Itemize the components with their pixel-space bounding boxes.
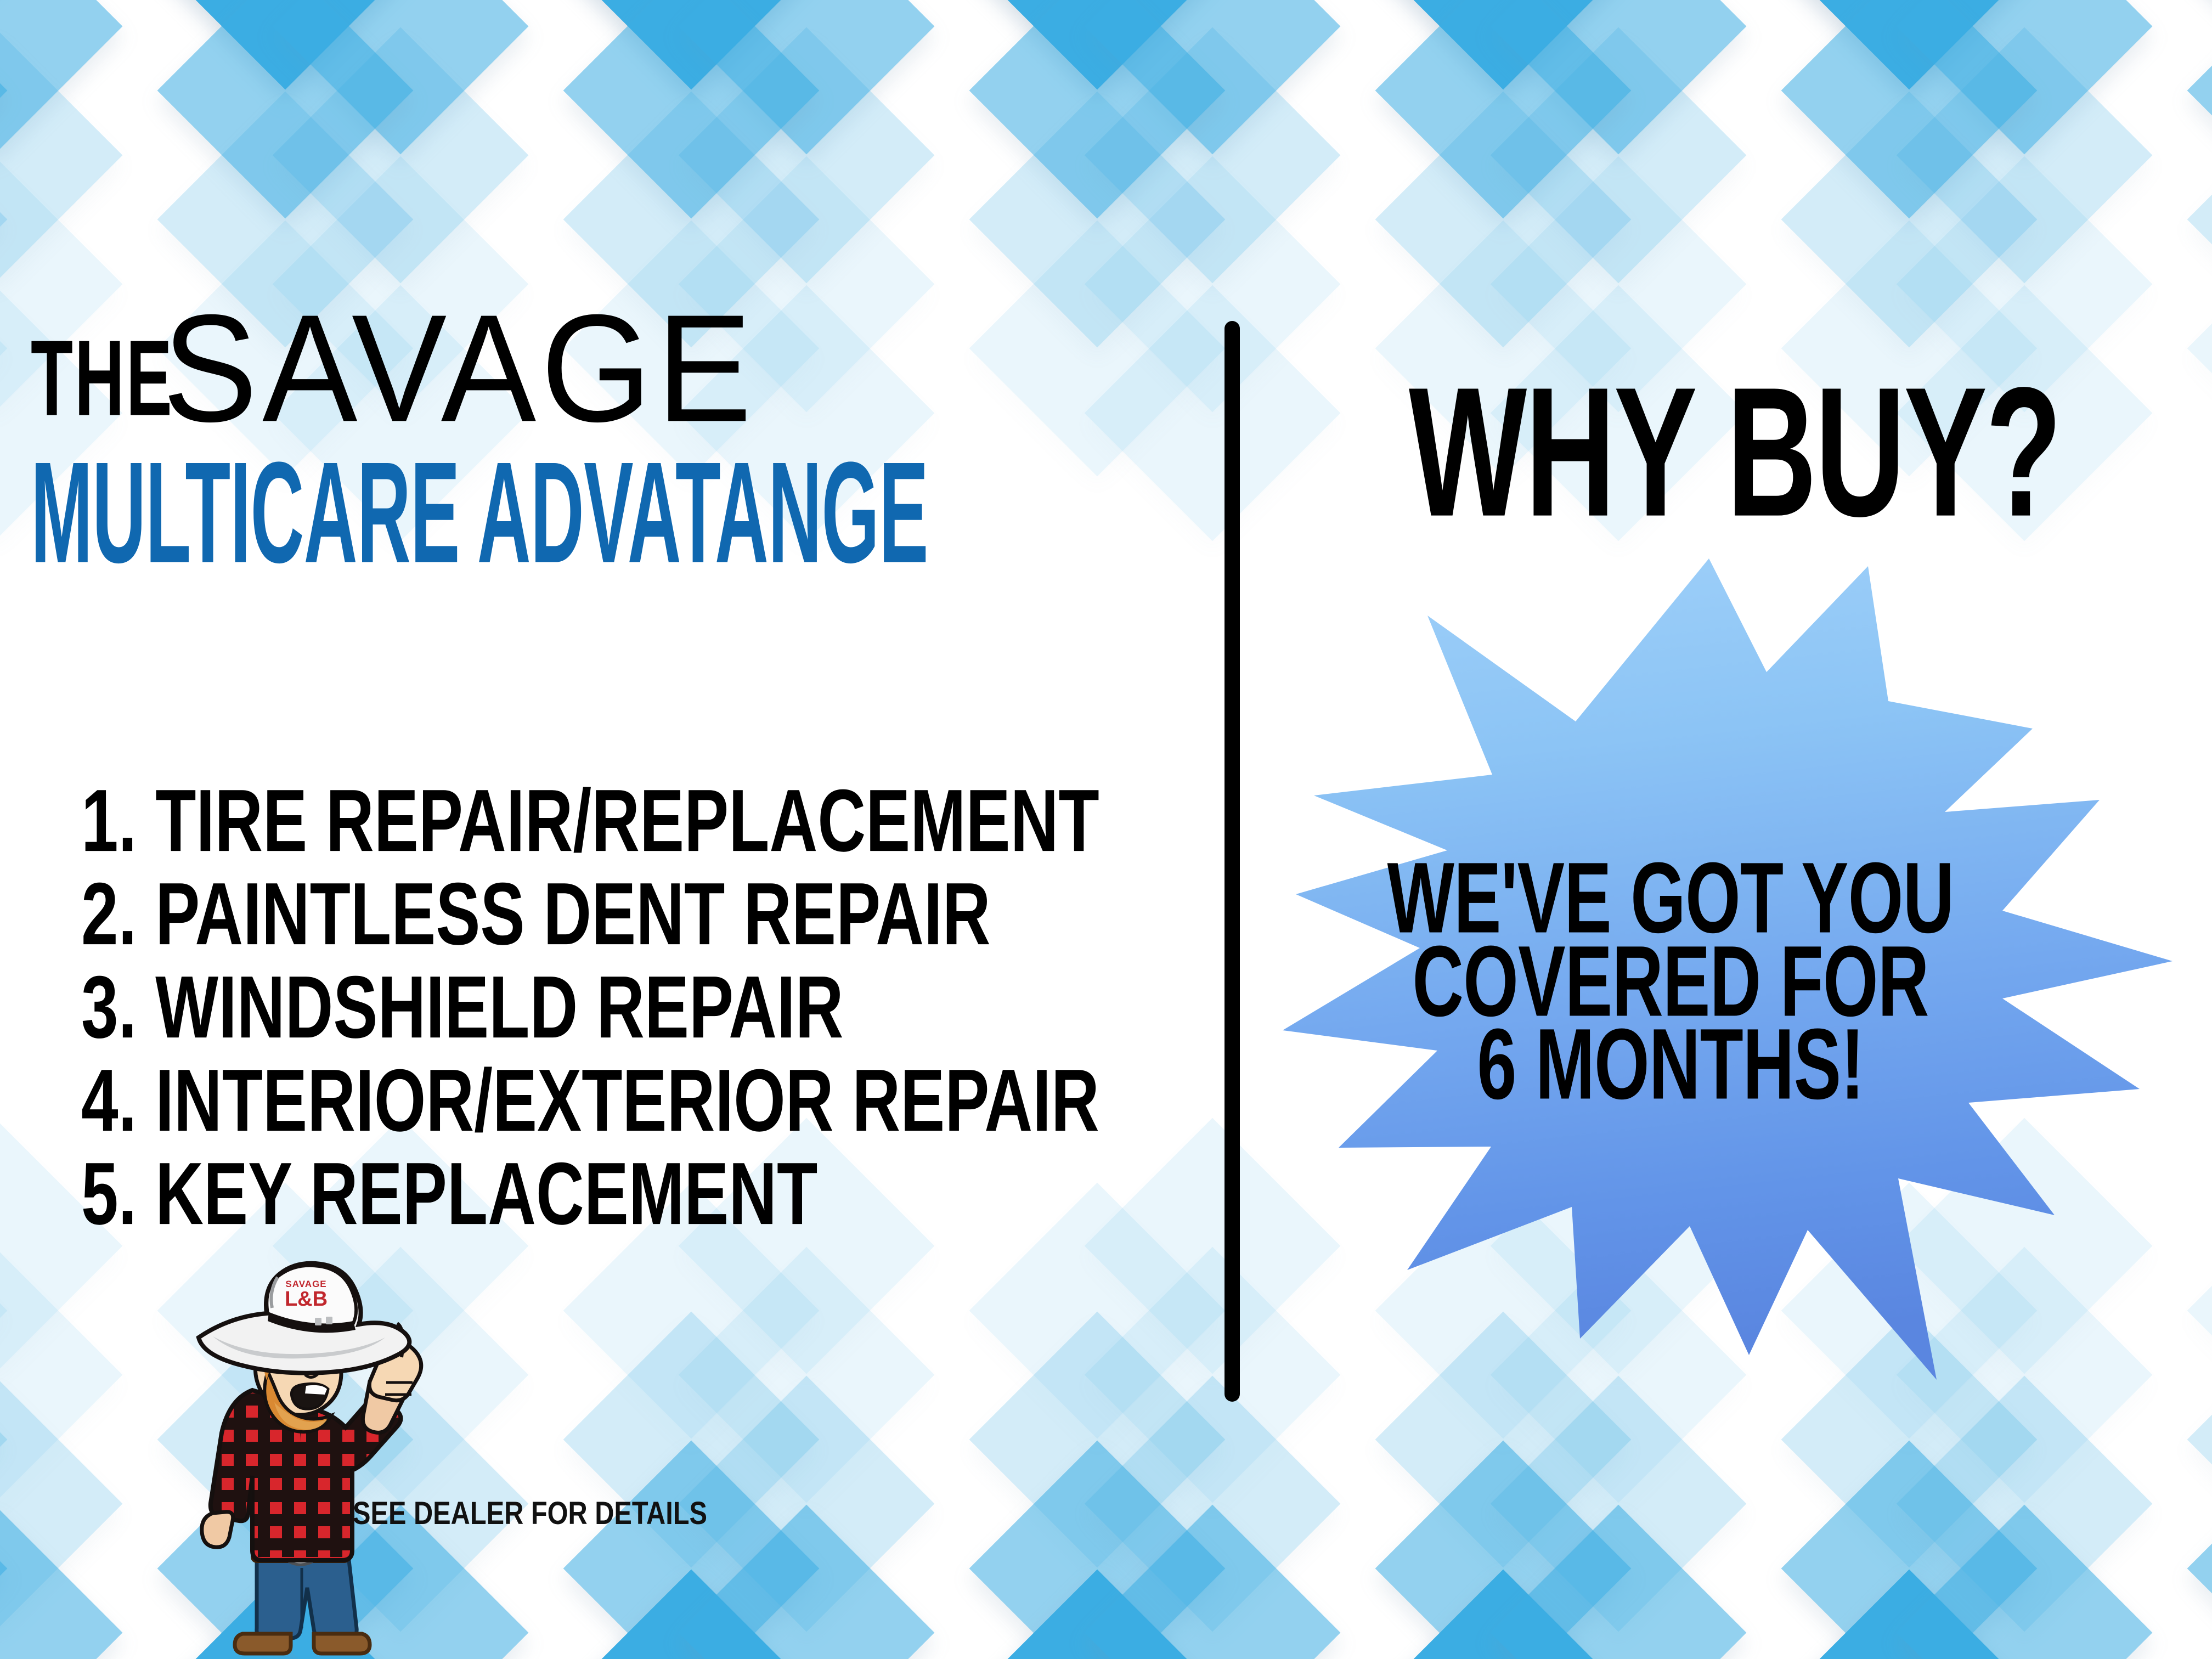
starburst-text-block: WE'VE GOT YOU COVERED FOR 6 MONTHS! (1273, 857, 2068, 1107)
background-diamond (273, 0, 529, 154)
background-diamond (157, 0, 414, 218)
mascot-cowboy-thumbs-up: SAVAGE L&B (160, 1255, 445, 1659)
background-diamond (0, 27, 122, 284)
background-diamond (679, 27, 935, 284)
mascot-jeans (257, 1560, 357, 1638)
list-item: 3. WINDSHIELD REPAIR (81, 963, 1099, 1051)
background-diamond (563, 0, 820, 218)
background-diamond (969, 0, 1226, 89)
mascot-cowboy-hat: SAVAGE L&B (199, 1263, 409, 1373)
list-item: 2. PAINTLESS DENT REPAIR (81, 870, 1099, 958)
mascot-boots (235, 1634, 370, 1654)
headline-brand-savage: SAVAGE (162, 307, 757, 429)
headline-subtitle-multicare-advatange: MULTICARE ADVATANGE (31, 451, 753, 575)
why-buy-heading: WHY BUY? (1409, 369, 2060, 534)
right-content-column: WHY BUY? WE'VE GOT YOU COVERED FOR (1262, 0, 2212, 1659)
starburst-badge: WE'VE GOT YOU COVERED FOR 6 MONTHS! (1273, 554, 2200, 1383)
background-diamond (679, 0, 935, 154)
headline-block: THE SAVAGE MULTICARE ADVATANGE (31, 307, 1177, 552)
starburst-line-3: 6 MONTHS! (1345, 1017, 1997, 1113)
mascot-left-hand (202, 1512, 233, 1547)
background-diamond (0, 0, 7, 89)
list-item: 1. TIRE REPAIR/REPLACEMENT (81, 776, 1099, 865)
headline-the: THE (31, 334, 174, 422)
background-diamond (969, 0, 1226, 218)
mascot-illustration-icon: SAVAGE L&B (160, 1255, 445, 1659)
background-diamond (273, 27, 529, 284)
background-diamond (157, 0, 414, 89)
background-diamond (0, 0, 7, 218)
background-diamond (563, 0, 820, 89)
headline-row-primary: THE SAVAGE (31, 307, 1177, 422)
poster-canvas: THE SAVAGE MULTICARE ADVATANGE 1. TIRE R… (0, 0, 2212, 1659)
hat-logo-lb-text: L&B (285, 1288, 328, 1311)
service-list: 1. TIRE REPAIR/REPLACEMENT 2. PAINTLESS … (81, 779, 1354, 1245)
background-diamond (0, 0, 122, 154)
list-item: 4. INTERIOR/EXTERIOR REPAIR (81, 1056, 1099, 1144)
list-item: 5. KEY REPLACEMENT (81, 1149, 1099, 1238)
